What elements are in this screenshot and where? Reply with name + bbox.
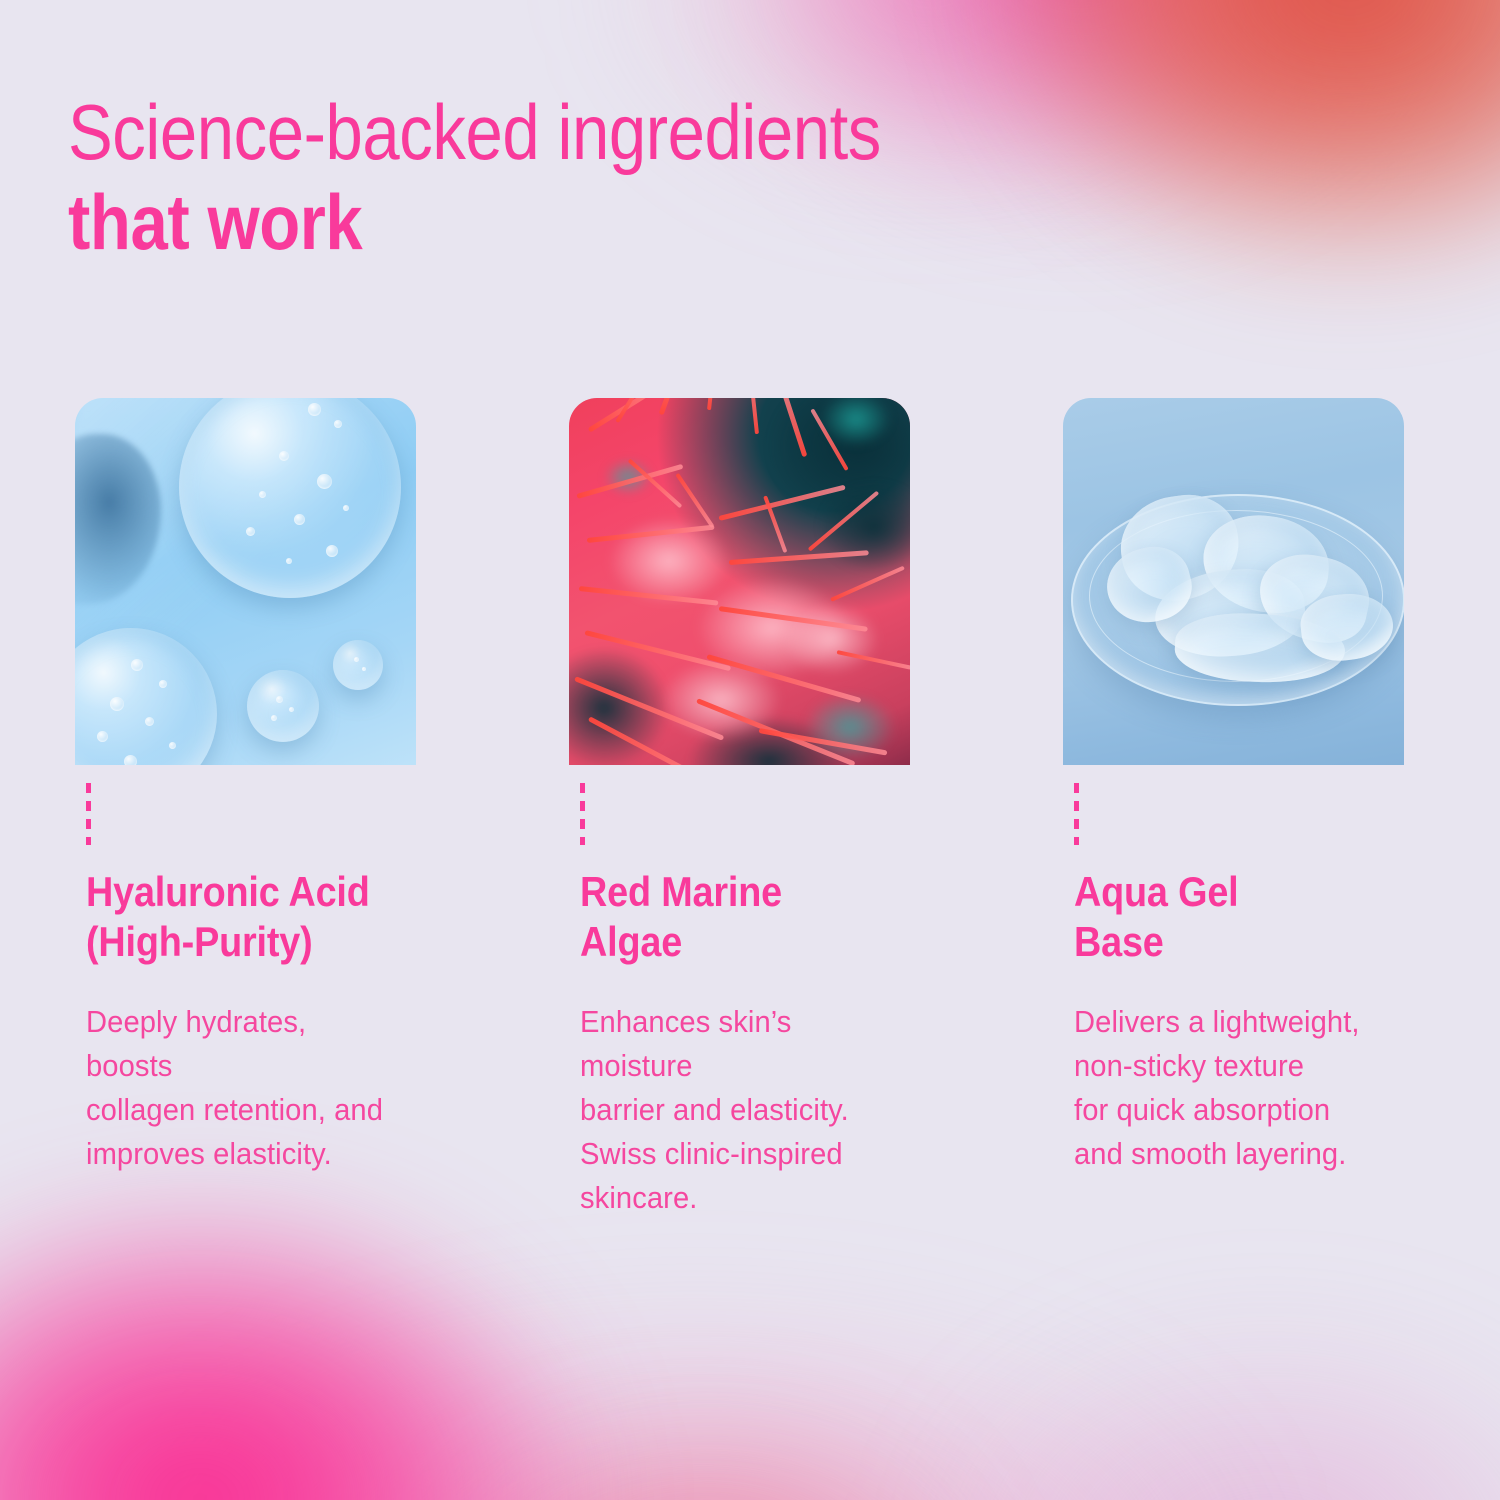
card-connector-line-2	[580, 783, 585, 845]
bottom-left-magenta-blob	[0, 1180, 610, 1500]
headline-line-2: that work	[68, 182, 1186, 262]
bottom-coral-blob	[430, 1410, 990, 1500]
ingredient-title-3: Aqua Gel Base	[1074, 867, 1371, 966]
ingredient-description-2: Enhances skin’s moisture barrier and ela…	[580, 1000, 890, 1220]
aqua-gel-base-petri-dish-photo	[1063, 398, 1404, 765]
hyaluronic-acid-droplets-photo	[75, 398, 416, 765]
card-connector-line-3	[1074, 783, 1079, 845]
bottom-right-lilac-blob	[920, 1320, 1500, 1500]
headline-line-1: Science-backed ingredients	[68, 92, 1186, 172]
ingredient-card-aqua-gel-base[interactable]: Aqua Gel Base Delivers a lightweight, no…	[1063, 398, 1404, 1220]
poster-canvas: Science-backed ingredients that work	[0, 0, 1500, 1500]
page-title: Science-backed ingredients that work	[68, 92, 1368, 263]
card-connector-line-1	[86, 783, 91, 845]
red-marine-algae-coral-photo	[569, 398, 910, 765]
ingredient-card-red-marine-algae[interactable]: Red Marine Algae Enhances skin’s moistur…	[569, 398, 910, 1220]
ingredient-title-2: Red Marine Algae	[580, 867, 877, 966]
ingredient-description-1: Deeply hydrates, boosts collagen retenti…	[86, 1000, 396, 1176]
ingredient-card-hyaluronic-acid[interactable]: Hyaluronic Acid (High-Purity) Deeply hyd…	[75, 398, 416, 1220]
ingredient-description-3: Delivers a lightweight, non-sticky textu…	[1074, 1000, 1384, 1176]
ingredient-card-row: Hyaluronic Acid (High-Purity) Deeply hyd…	[75, 398, 1425, 1220]
bottom-wide-pink-blob	[120, 1310, 1270, 1500]
ingredient-title-1: Hyaluronic Acid (High-Purity)	[86, 867, 383, 966]
